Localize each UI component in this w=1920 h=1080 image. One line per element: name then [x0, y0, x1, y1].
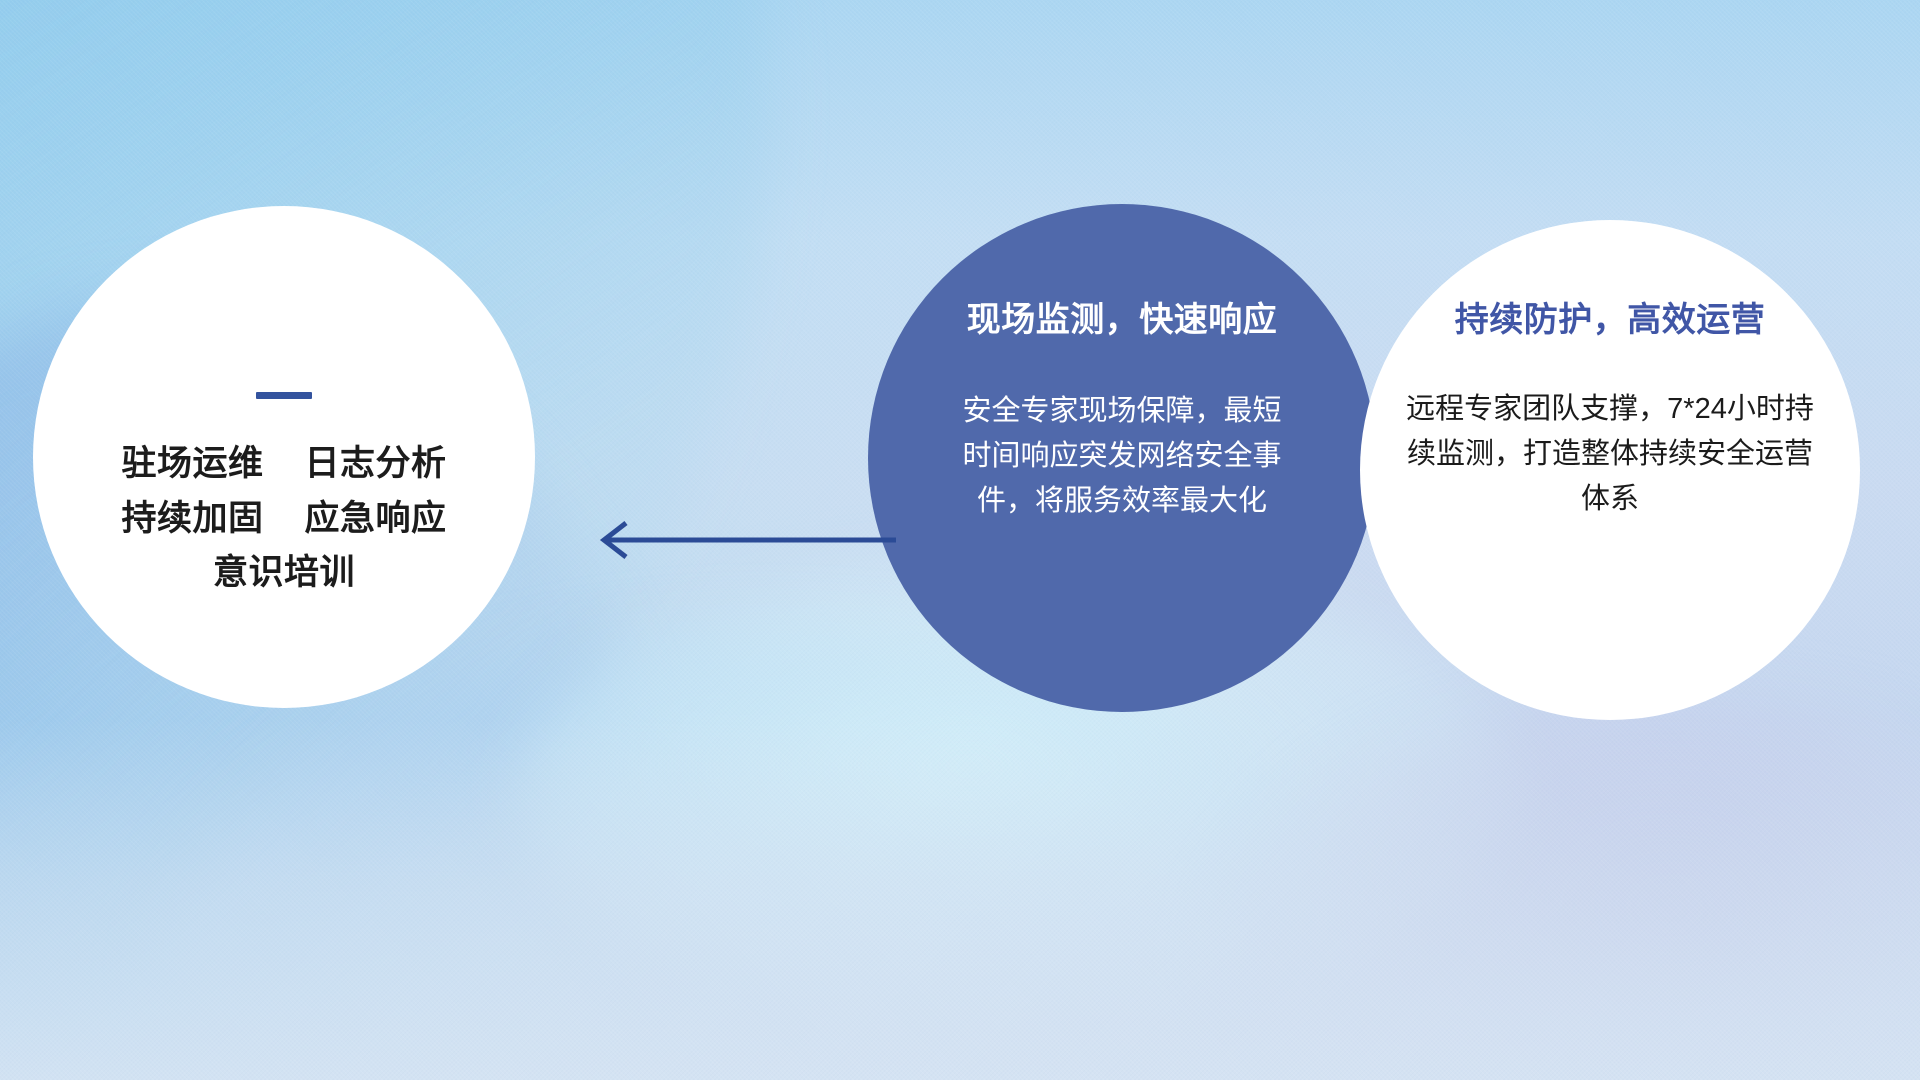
continuous-protection-body: 远程专家团队支撑，7*24小时持续监测，打造整体持续安全运营体系 [1400, 387, 1820, 523]
continuous-protection-circle[interactable]: 持续防护，高效运营 远程专家团队支撑，7*24小时持续监测，打造整体持续安全运营… [1360, 220, 1860, 720]
capability-line: 持续加固 应急响应 [122, 492, 447, 547]
onsite-monitoring-circle[interactable]: 现场监测，快速响应 安全专家现场保障，最短时间响应突发网络安全事件，将服务效率最… [868, 204, 1376, 712]
capability-list: 驻场运维 日志分析 持续加固 应急响应 意识培训 [122, 437, 447, 601]
continuous-protection-title: 持续防护，高效运营 [1455, 292, 1766, 341]
capability-line: 意识培训 [122, 546, 447, 601]
onsite-monitoring-title: 现场监测，快速响应 [967, 292, 1278, 341]
left-capability-circle[interactable]: 驻场运维 日志分析 持续加固 应急响应 意识培训 [33, 206, 535, 708]
arrow-left-icon [596, 510, 896, 570]
onsite-monitoring-body: 安全专家现场保障，最短时间响应突发网络安全事件，将服务效率最大化 [957, 389, 1287, 525]
capability-line: 驻场运维 日志分析 [122, 437, 447, 492]
slide-canvas: 驻场运维 日志分析 持续加固 应急响应 意识培训 现场监测，快速响应 安全专家现… [0, 0, 1920, 1080]
accent-dash [256, 392, 312, 399]
